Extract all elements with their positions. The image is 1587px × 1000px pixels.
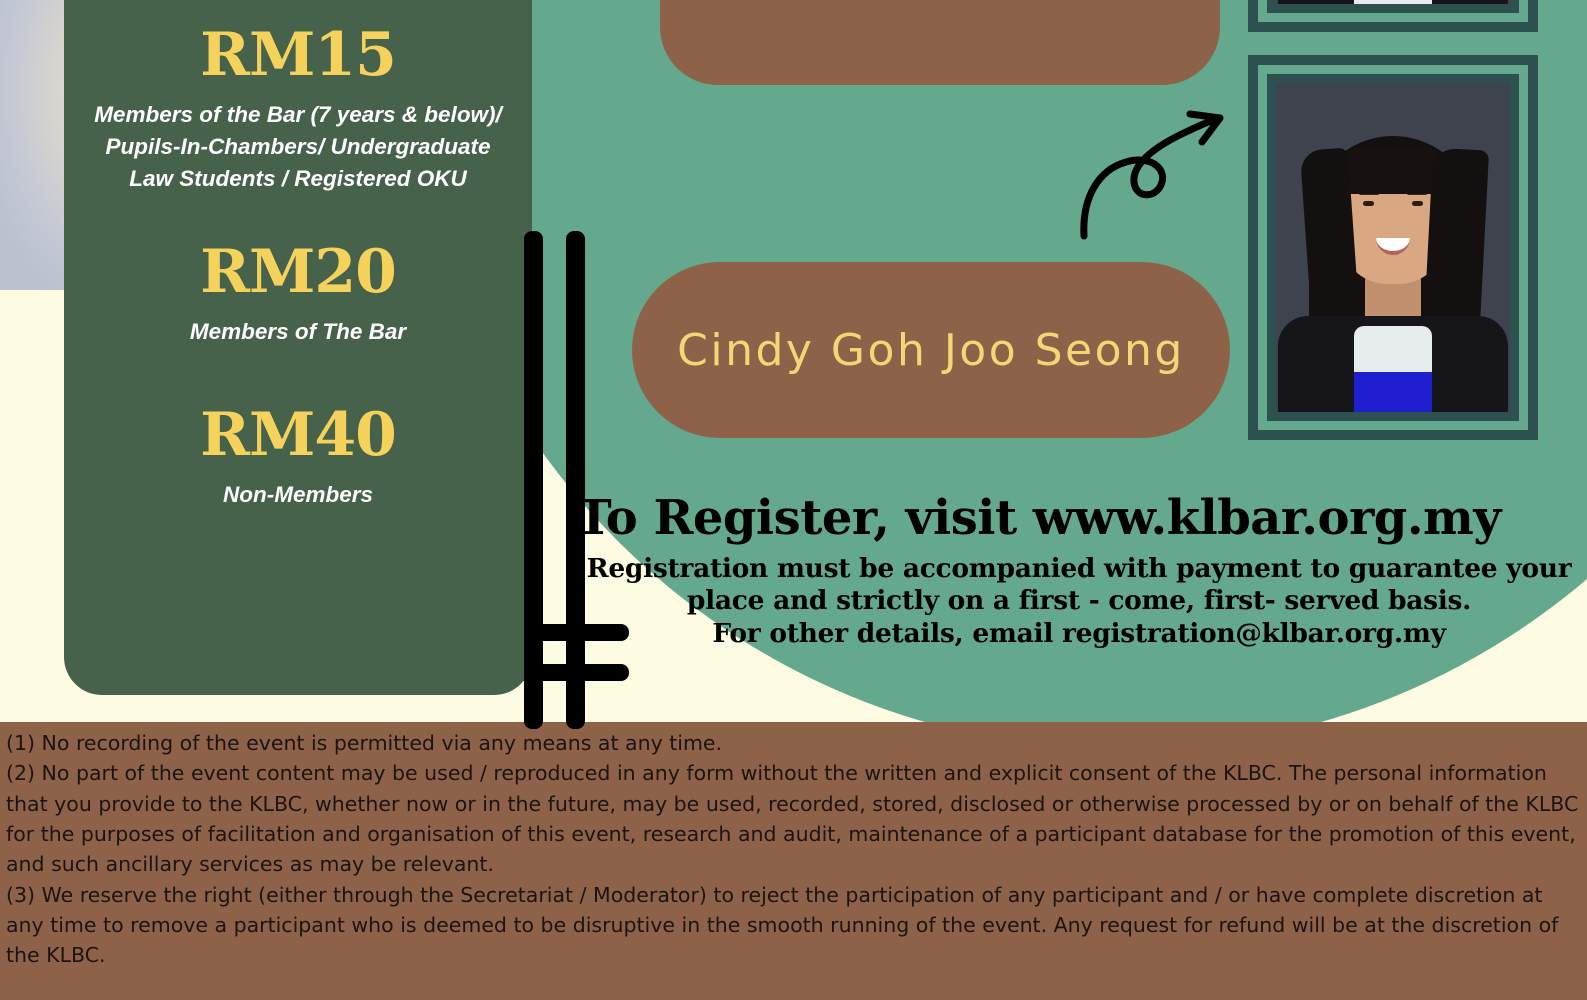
speaker-photo-inner-secondary — [1267, 0, 1519, 13]
disclaimer-item-1: (1) No recording of the event is permitt… — [6, 728, 1581, 758]
pricing-tier-3: RM40 Non-Members — [64, 404, 532, 511]
pricing-tier-2: RM20 Members of The Bar — [64, 241, 532, 348]
speaker-photo — [1276, 83, 1510, 412]
speaker-photo-secondary — [1276, 0, 1510, 4]
pricing-tier-2-price: RM20 — [90, 241, 506, 304]
curly-arrow-icon — [1074, 106, 1234, 246]
disclaimer-item-2: (2) No part of the event content may be … — [6, 758, 1581, 879]
register-title: To Register, visit www.klbar.org.my — [576, 492, 1582, 545]
event-poster: RM15 Members of the Bar (7 years & below… — [0, 0, 1587, 1000]
register-line-1: Registration must be accompanied with pa… — [576, 553, 1582, 586]
speaker-name-pill: Cindy Goh Joo Seong — [632, 262, 1230, 438]
registration-block: To Register, visit www.klbar.org.my Regi… — [576, 492, 1582, 651]
pricing-tier-3-description: Non-Members — [90, 479, 506, 511]
pricing-card: RM15 Members of the Bar (7 years & below… — [64, 0, 532, 695]
speaker-photo-frame-secondary — [1248, 0, 1538, 32]
decoration-vertical-bar-2 — [566, 231, 585, 729]
speaker-photo-inner — [1267, 74, 1519, 421]
register-line-3: For other details, email registration@kl… — [576, 618, 1582, 651]
pricing-tier-1-description: Members of the Bar (7 years & below)/ Pu… — [90, 99, 506, 195]
disclaimer-block: (1) No recording of the event is permitt… — [0, 728, 1587, 971]
speaker-photo-frame — [1248, 55, 1538, 440]
disclaimer-item-3: (3) We reserve the right (either through… — [6, 880, 1581, 971]
speaker-name: Cindy Goh Joo Seong — [677, 325, 1185, 376]
pricing-tier-2-description: Members of The Bar — [90, 316, 506, 348]
top-brown-pill-decoration — [660, 0, 1220, 85]
decoration-vertical-bar-1 — [524, 231, 543, 729]
pricing-tier-3-price: RM40 — [90, 404, 506, 467]
pricing-tier-1: RM15 Members of the Bar (7 years & below… — [64, 24, 532, 195]
pricing-tier-1-price: RM15 — [90, 24, 506, 87]
register-line-2: place and strictly on a first - come, fi… — [576, 585, 1582, 618]
